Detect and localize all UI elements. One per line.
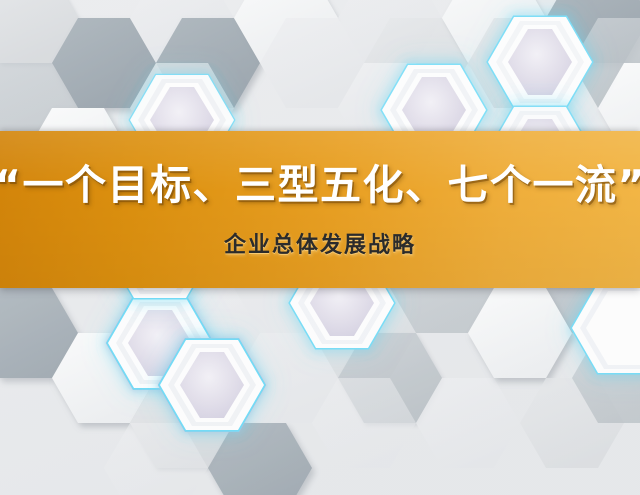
- title-slide: “一个目标、三型五化、七个一流” 企业总体发展战略: [0, 0, 640, 495]
- page-title: “一个目标、三型五化、七个一流”: [0, 164, 640, 207]
- title-banner: “一个目标、三型五化、七个一流” 企业总体发展战略: [0, 131, 640, 288]
- page-subtitle: 企业总体发展战略: [224, 227, 416, 259]
